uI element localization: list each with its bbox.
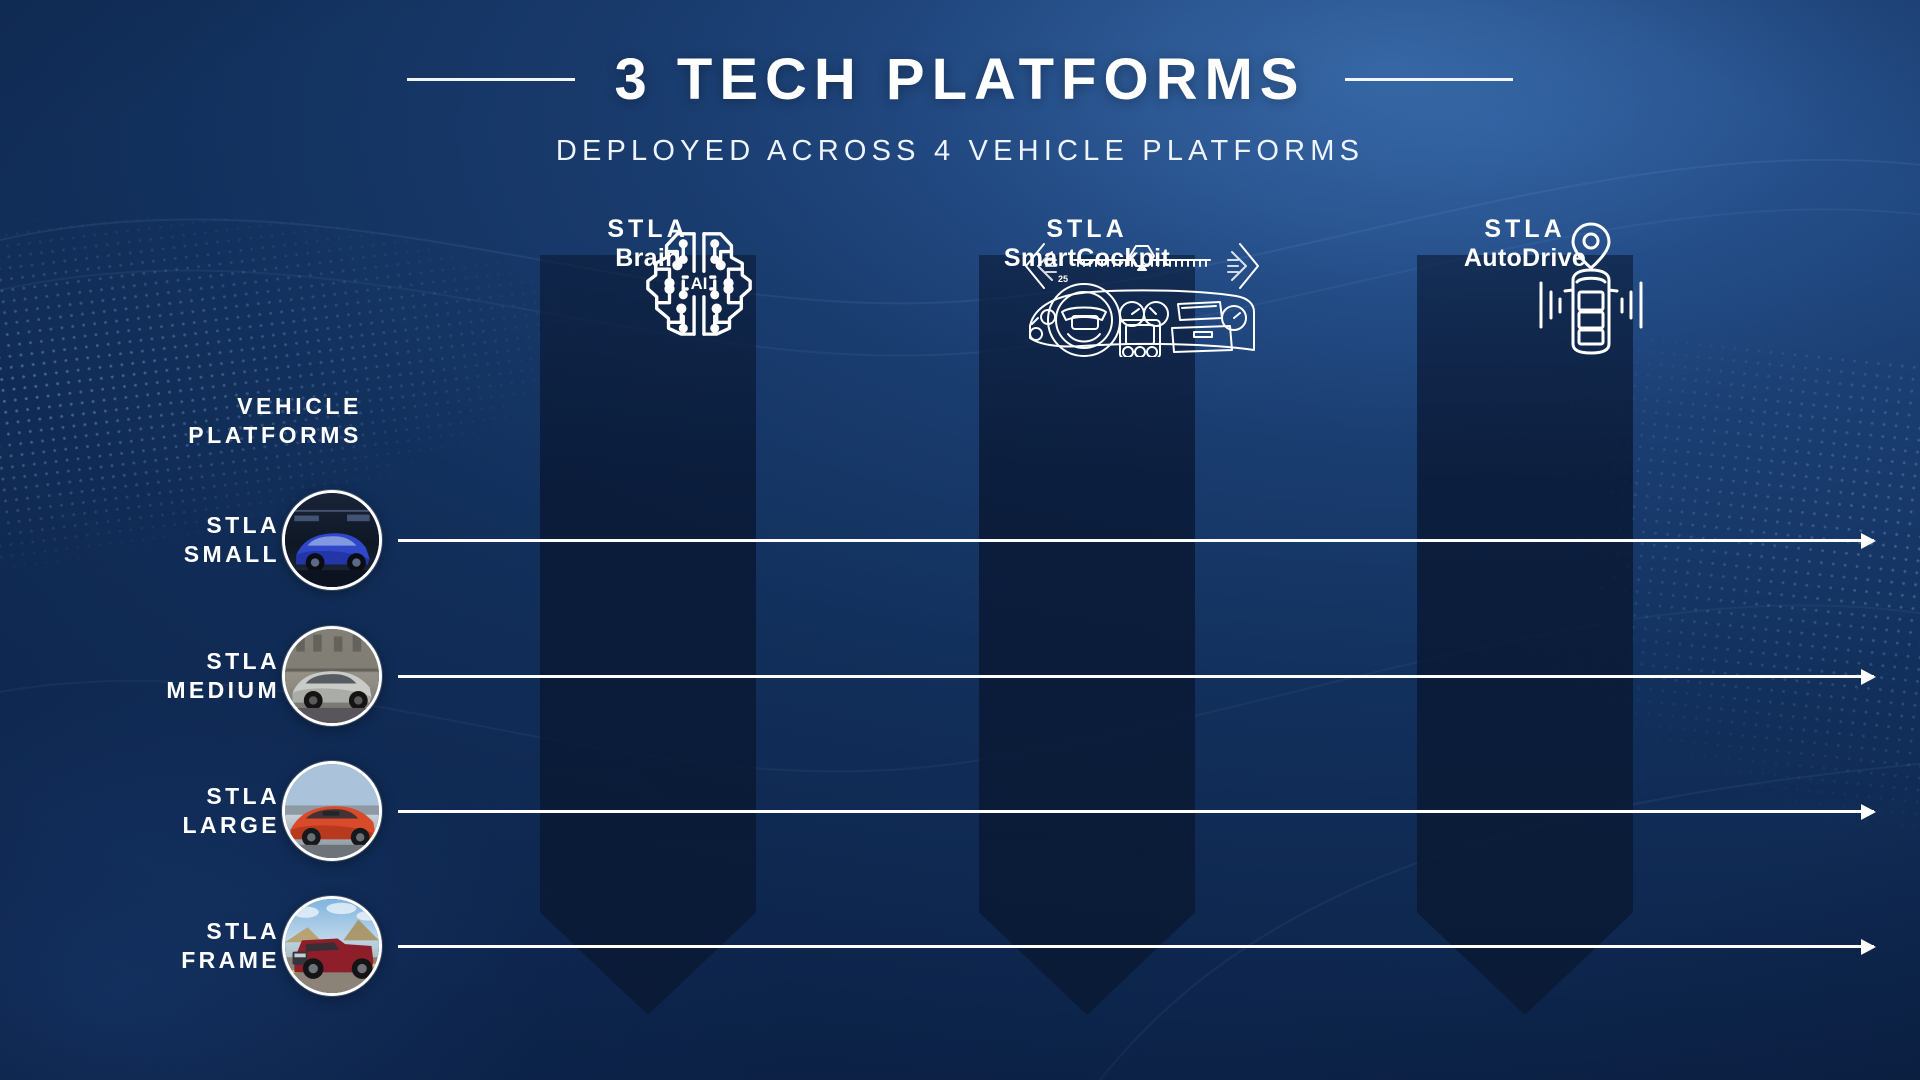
vehicle-platform-label-small-line1: STLA [20,511,280,540]
vehicle-platform-row-small[interactable]: STLA SMALL [0,490,1920,590]
vehicle-platform-label-medium-line2: MEDIUM [20,676,280,705]
vehicle-platform-row-frame[interactable]: STLA FRAME [0,896,1920,996]
slide-canvas: 3 TECH PLATFORMS DEPLOYED ACROSS 4 VEHIC… [0,0,1920,1080]
vehicle-platform-label-small: STLA SMALL [20,511,280,569]
cockpit-speed-caption: 25 [1058,274,1068,284]
page-subtitle: DEPLOYED ACROSS 4 VEHICLE PLATFORMS [0,135,1920,168]
vehicle-platform-label-medium: STLA MEDIUM [20,647,280,705]
vehicle-platform-label-frame-line2: FRAME [20,946,280,975]
flow-arrow-frame [398,945,1874,948]
ai-brain-icon-caption: AI [691,274,708,293]
page-title: 3 TECH PLATFORMS [615,46,1306,113]
flow-arrow-medium [398,675,1874,678]
vehicle-platform-label-large-line1: STLA [20,782,280,811]
vehicle-platform-label-large-line2: LARGE [20,811,280,840]
vehicle-platforms-axis-label-line1: VEHICLE [0,392,362,421]
vehicle-platform-row-medium[interactable]: STLA MEDIUM [0,626,1920,726]
vehicle-platform-label-large: STLA LARGE [20,782,280,840]
vehicle-thumbnail-small[interactable] [282,490,382,590]
vehicle-platforms-axis-label: VEHICLE PLATFORMS [0,392,362,450]
vehicle-thumbnail-large[interactable] [282,761,382,861]
vehicle-platform-label-frame: STLA FRAME [20,917,280,975]
vehicle-platform-label-medium-line1: STLA [20,647,280,676]
ai-brain-circuit-icon: AI [640,224,758,347]
left-rule [407,78,575,81]
title-row: 3 TECH PLATFORMS [0,46,1920,113]
vehicle-platform-label-frame-line1: STLA [20,917,280,946]
vehicle-thumbnail-medium[interactable] [282,626,382,726]
autonomous-car-sensor-icon [1527,220,1655,360]
vehicle-platform-row-large[interactable]: STLA LARGE [0,761,1920,861]
right-rule [1345,78,1513,81]
car-cockpit-dashboard-icon: 25 [1022,232,1262,362]
vehicle-thumbnail-frame[interactable] [282,896,382,996]
flow-arrow-large [398,810,1874,813]
flow-arrow-small [398,539,1874,542]
vehicle-platforms-axis-label-line2: PLATFORMS [0,421,362,450]
vehicle-platform-label-small-line2: SMALL [20,540,280,569]
